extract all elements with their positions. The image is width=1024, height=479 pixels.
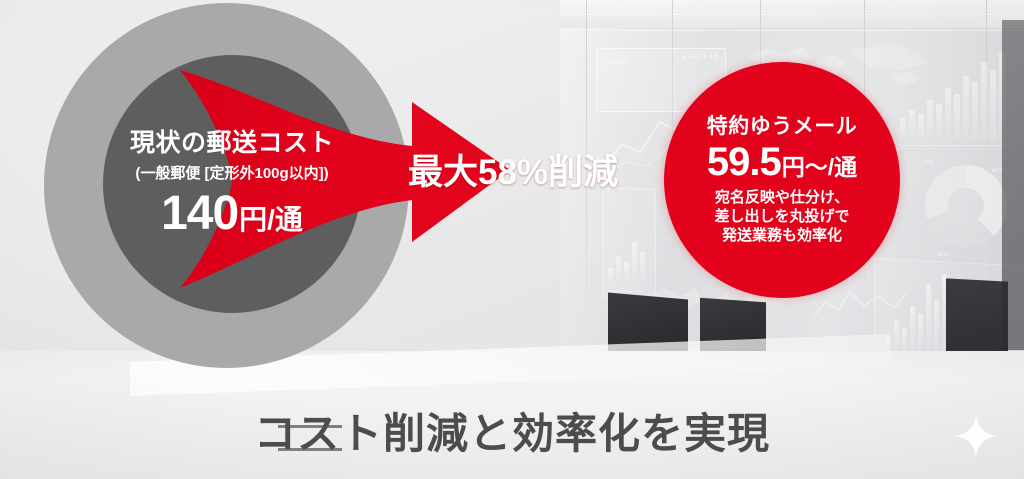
ceiling-seam [560, 30, 1024, 31]
background-donut-chart [925, 165, 1007, 247]
infographic-stage: · · · · · · · · · · · · 12% 41% Risk REP… [0, 0, 1024, 479]
wall-column [1002, 20, 1024, 350]
arrow-reduction-label: 最大58%削減 [408, 155, 618, 190]
after-red-circle [664, 62, 900, 298]
background-card-label: ▲ 41.2 ▼ 0.8 [682, 54, 718, 60]
bottom-caption: コスト削減と効率化を実現 [0, 400, 1024, 461]
sparkle-icon [955, 415, 997, 457]
background-donut-label: Risk [938, 252, 949, 258]
ceiling-seam [560, 14, 1024, 15]
background-chart-axis-labels: · · · · · · · · · · · · [902, 146, 946, 152]
background-donut-label: 12% [922, 160, 933, 166]
